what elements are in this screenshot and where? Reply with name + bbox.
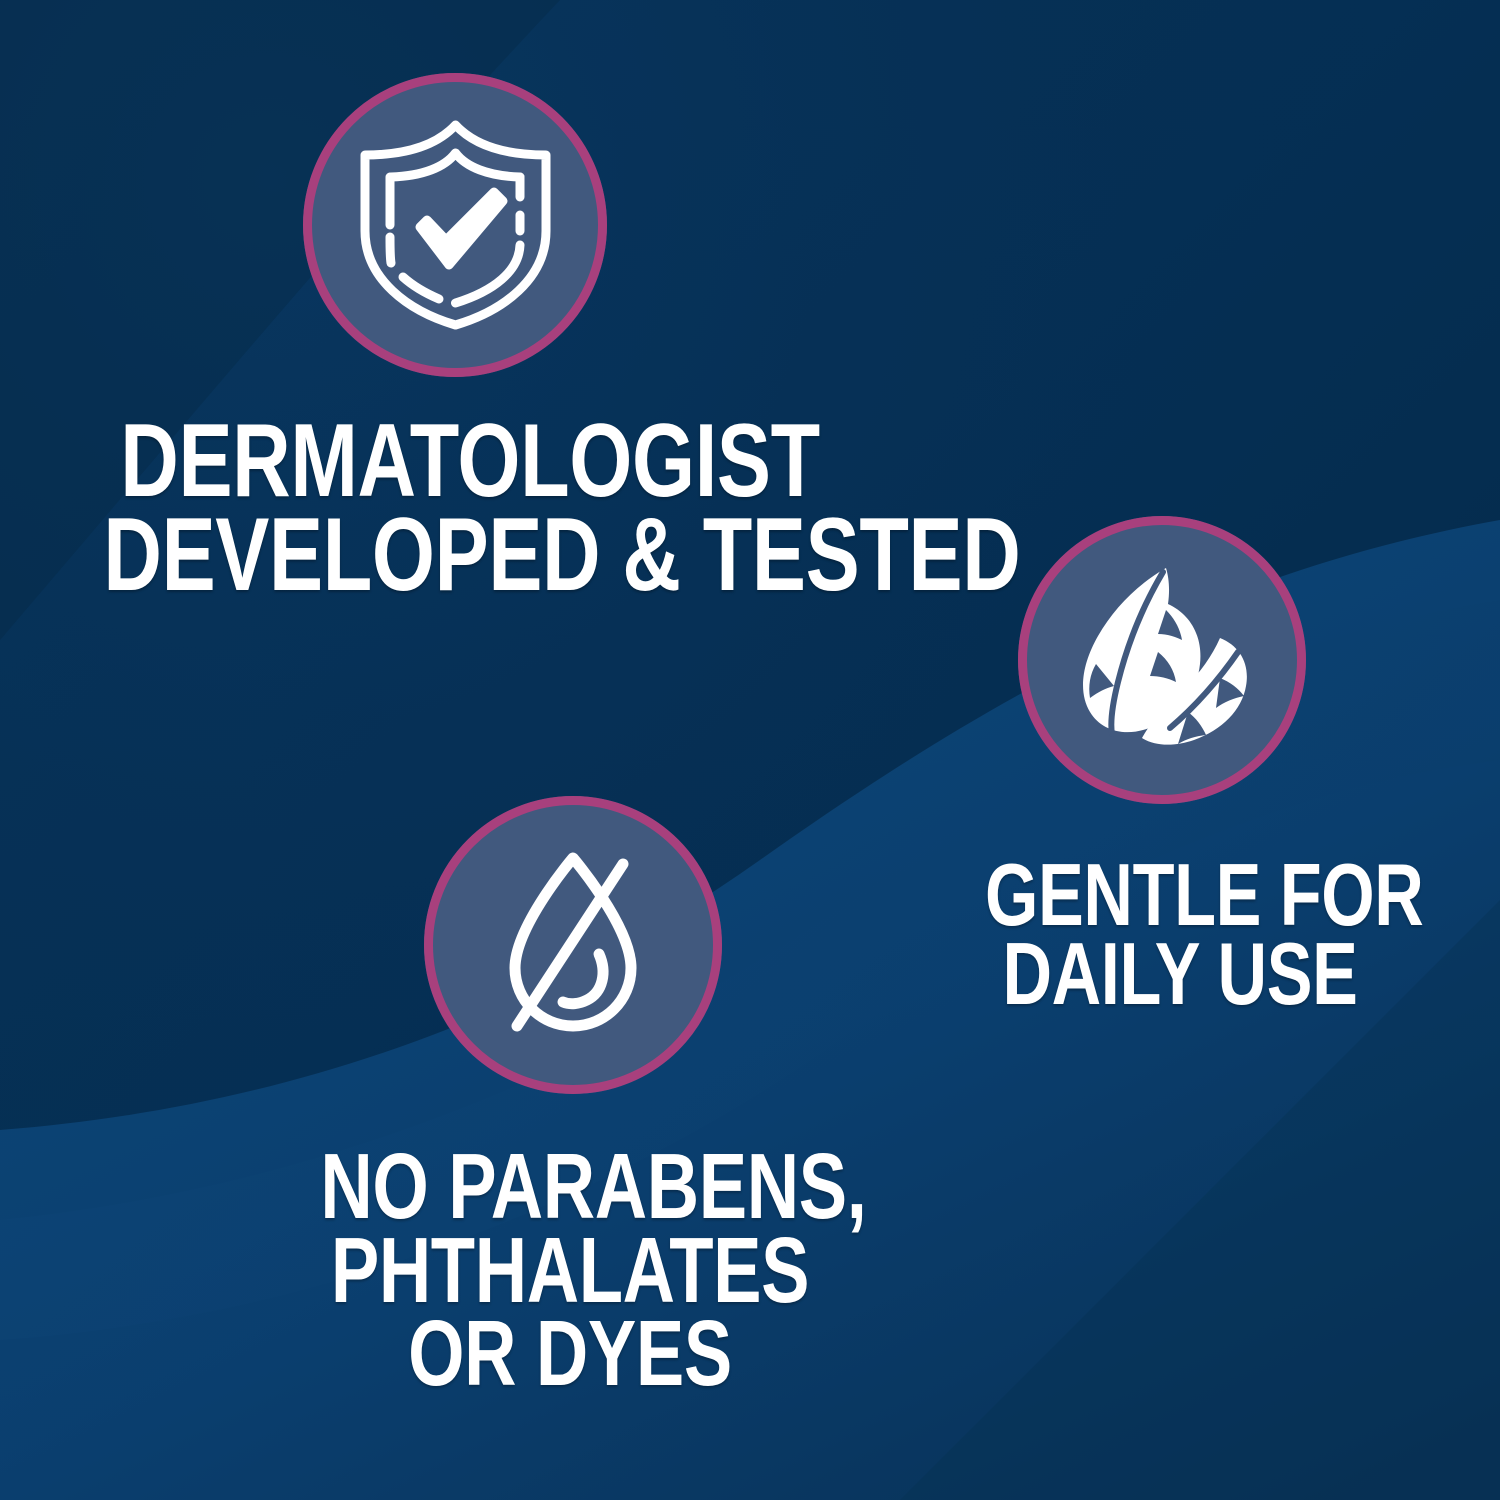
badge-gentle-daily [1018,516,1306,804]
shield-check-icon [353,119,558,331]
feather-icon [1070,560,1260,760]
caption-line: NO PARABENS, [320,1145,819,1229]
caption-gentle-daily: GENTLE FOR DAILY USE [930,855,1430,1013]
caption-line: PHTHALATES [320,1229,819,1313]
check-glyph [420,192,503,265]
no-droplet-icon [475,842,671,1048]
caption-line: OR DYES [320,1312,819,1396]
caption-line: GENTLE FOR [985,855,1375,934]
caption-line: DERMATOLOGIST [103,415,836,509]
product-benefits-graphic: DERMATOLOGIST DEVELOPED & TESTED GENTLE … [0,0,1500,1500]
caption-line: DAILY USE [985,934,1375,1013]
caption-line: DEVELOPED & TESTED [103,509,836,603]
caption-free-from: NO PARABENS, PHTHALATES OR DYES [250,1145,890,1396]
caption-dermatologist: DERMATOLOGIST DEVELOPED & TESTED [0,415,940,602]
badge-free-from [424,796,722,1094]
badge-dermatologist [303,73,607,377]
droplet-inner-arc [563,954,603,1004]
